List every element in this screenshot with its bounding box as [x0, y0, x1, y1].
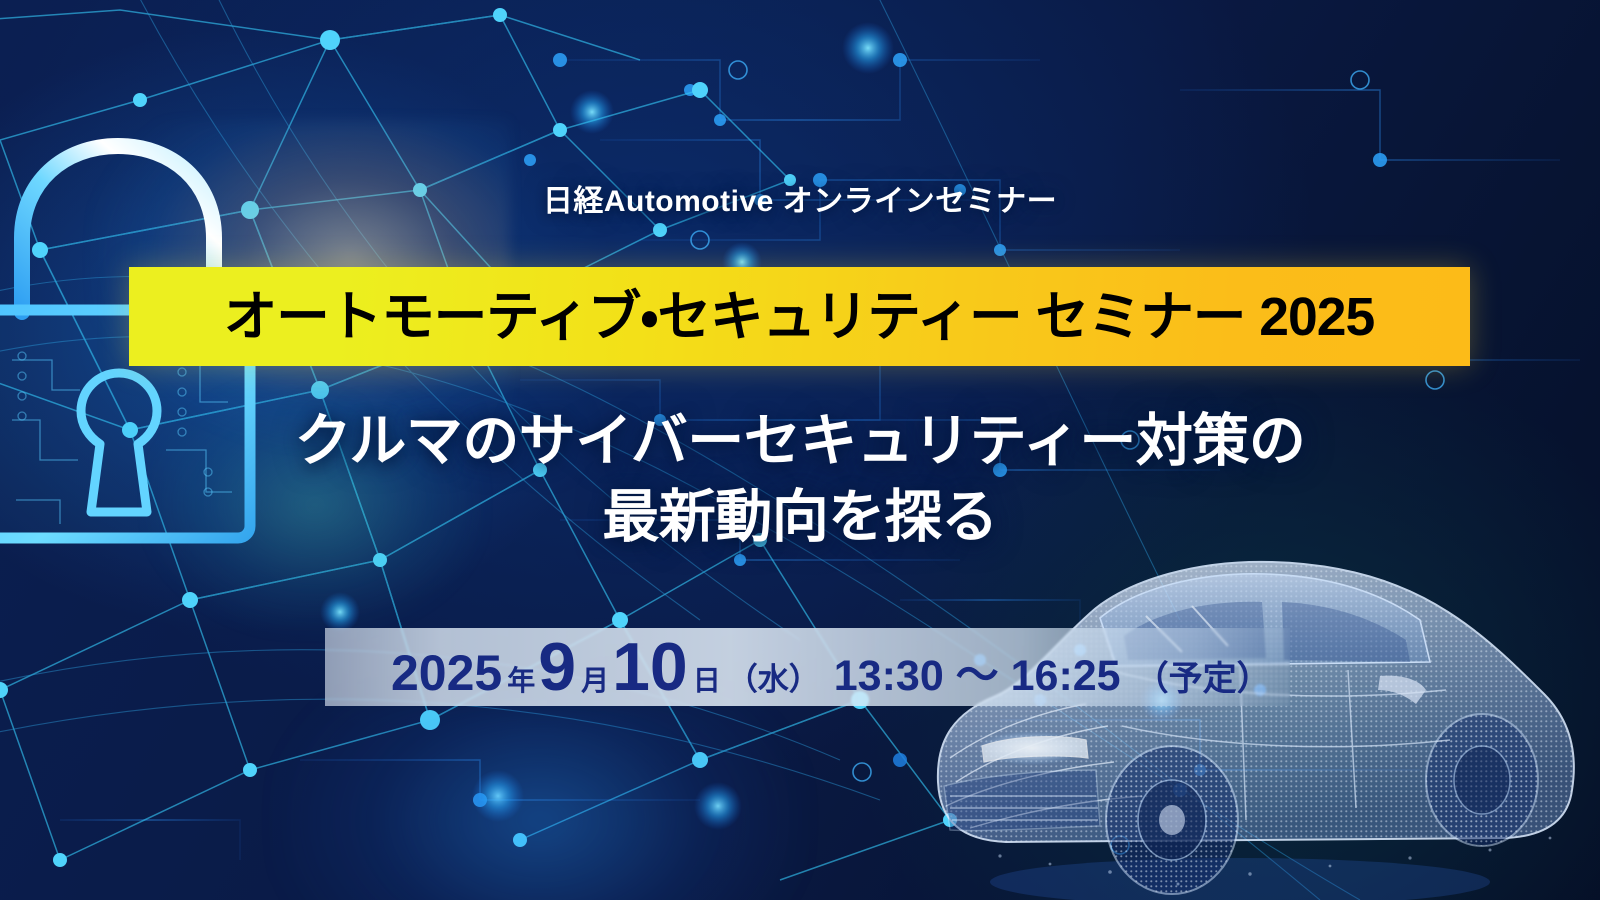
date-year: 2025 [391, 648, 502, 698]
banner-content: 日経Automotive オンラインセミナー オートモーティブ・セキュリティー … [0, 0, 1600, 900]
date-note: （予定） [1121, 662, 1271, 696]
seminar-subtitle: クルマのサイバーセキュリティー対策の 最新動向を探る [0, 404, 1600, 556]
seminar-title-bar: オートモーティブ・セキュリティー セミナー 2025 [129, 267, 1470, 366]
date-day: 10 [612, 633, 688, 701]
seminar-date-row: 2025 年 9 月 10 日 （水） 13:30 〜 16:25 （予定） [325, 633, 1271, 701]
date-time-range: 13:30 〜 16:25 [820, 655, 1121, 698]
date-day-unit: 日 [688, 667, 724, 695]
subtitle-line-2: 最新動向を探る [0, 480, 1600, 556]
subtitle-line-1: クルマのサイバーセキュリティー対策の [0, 404, 1600, 480]
date-month: 9 [538, 633, 576, 701]
seminar-banner: 日経Automotive オンラインセミナー オートモーティブ・セキュリティー … [0, 0, 1600, 900]
date-year-unit: 年 [502, 667, 538, 695]
seminar-date-band: 2025 年 9 月 10 日 （水） 13:30 〜 16:25 （予定） [325, 628, 1290, 706]
date-dayofweek: （水） [724, 664, 820, 695]
seminar-title: オートモーティブ・セキュリティー セミナー 2025 [224, 290, 1374, 344]
date-month-unit: 月 [576, 667, 612, 695]
seminar-kicker: 日経Automotive オンラインセミナー [0, 176, 1600, 220]
